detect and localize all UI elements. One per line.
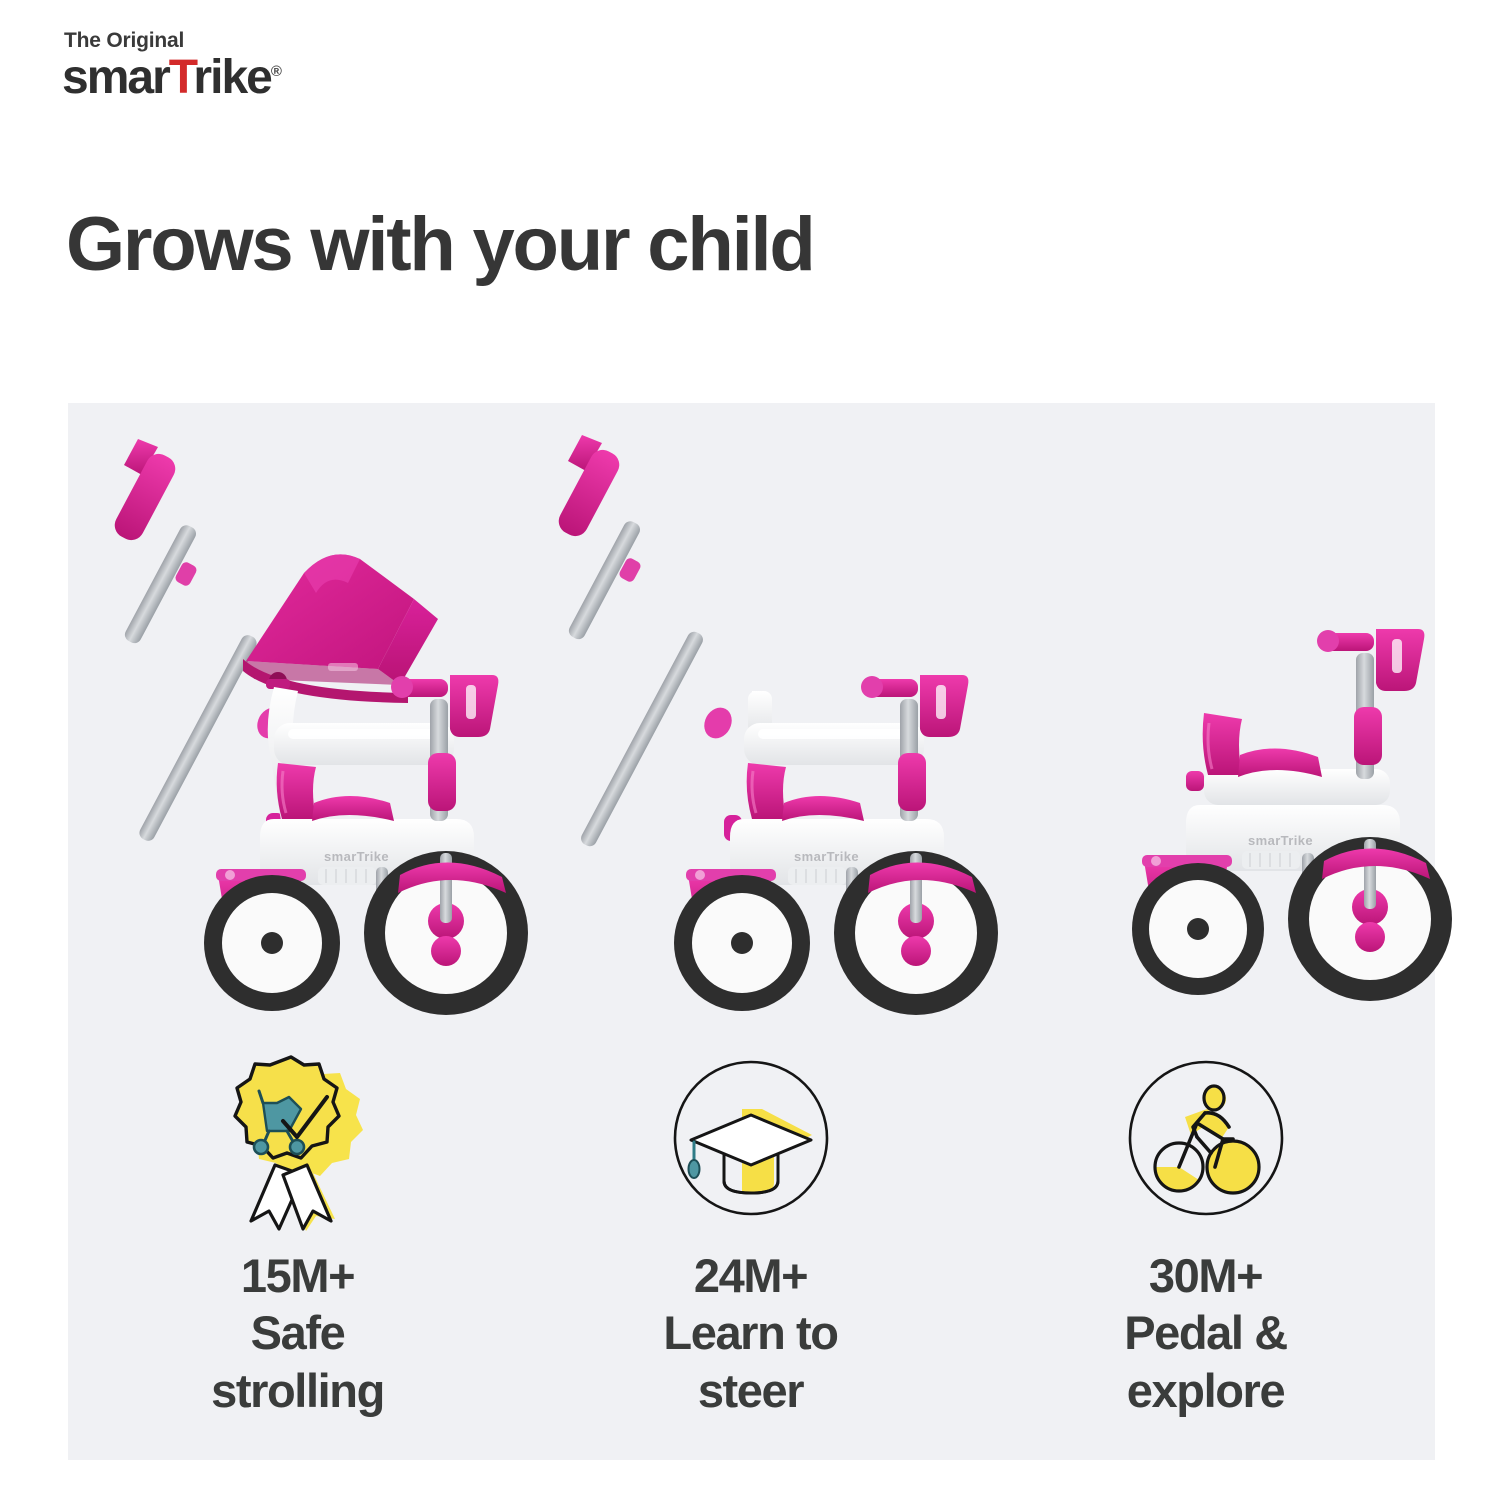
rear-wheel <box>674 875 810 1011</box>
product-image-row: smarTrike <box>68 403 1435 1043</box>
rear-wheel <box>1132 863 1264 995</box>
logo-wordmark-post: rike <box>193 51 270 104</box>
product-feature-page: The Original smarTrike® Grows with your … <box>0 0 1500 1500</box>
logo-wordmark: smarTrike® <box>62 53 382 103</box>
registered-mark: ® <box>271 63 282 80</box>
award-ribbon-stroller-icon <box>70 1043 525 1233</box>
feature-line-2: explore <box>978 1362 1433 1419</box>
logo-wordmark-pre: smar <box>62 51 169 104</box>
product-image-stage-1: smarTrike <box>78 423 548 1043</box>
logo-tagline: The Original <box>64 30 382 51</box>
feature-panel: smarTrike <box>68 403 1435 1460</box>
cyclist-icon <box>978 1043 1433 1233</box>
feature-item-learn-to-steer: 24M+ Learn to steer <box>523 1043 978 1419</box>
feature-age: 15M+ <box>70 1247 525 1304</box>
feature-line-1: Learn to <box>523 1304 978 1361</box>
feature-line-2: steer <box>523 1362 978 1419</box>
frame-badge: smarTrike <box>324 849 389 864</box>
handlebar-basket <box>1317 629 1424 779</box>
product-image-stage-2: smarTrike <box>548 423 1018 1043</box>
feature-item-pedal-explore: 30M+ Pedal & explore <box>978 1043 1433 1419</box>
page-title: Grows with your child <box>66 205 814 285</box>
feature-age: 24M+ <box>523 1247 978 1304</box>
brand-logo: The Original smarTrike® <box>62 30 382 103</box>
feature-age: 30M+ <box>978 1247 1433 1304</box>
frame-badge: smarTrike <box>1248 833 1313 848</box>
seat <box>747 763 864 821</box>
seat <box>277 763 394 821</box>
push-bar <box>554 435 742 849</box>
feature-label: 30M+ Pedal & explore <box>978 1247 1433 1419</box>
feature-label: 15M+ Safe strolling <box>70 1247 525 1419</box>
rear-wheel <box>204 875 340 1011</box>
feature-item-safe-strolling: 15M+ Safe strolling <box>70 1043 525 1419</box>
feature-label: 24M+ Learn to steer <box>523 1247 978 1419</box>
frame-badge: smarTrike <box>794 849 859 864</box>
logo-wordmark-accent: T <box>169 51 194 104</box>
product-image-stage-3: smarTrike <box>1068 423 1468 1043</box>
graduation-cap-icon <box>523 1043 978 1233</box>
feature-line-1: Pedal & <box>978 1304 1433 1361</box>
feature-line-1: Safe <box>70 1304 525 1361</box>
feature-row: 15M+ Safe strolling <box>68 1043 1435 1460</box>
feature-line-2: strolling <box>70 1362 525 1419</box>
